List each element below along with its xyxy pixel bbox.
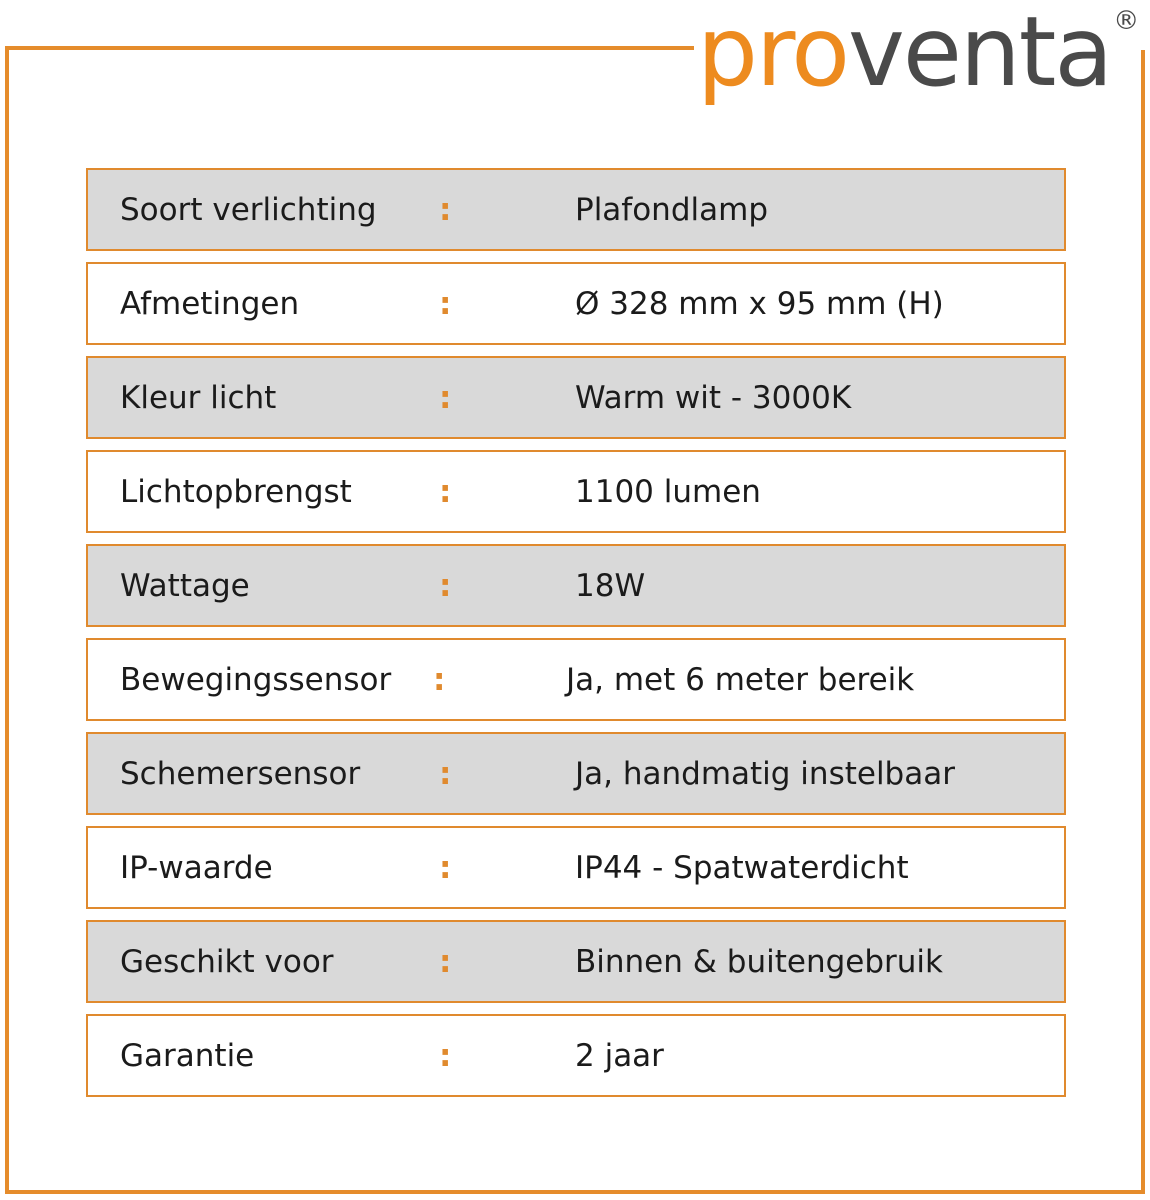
spec-label: IP-waarde — [120, 850, 273, 886]
spec-value: Ja, handmatig instelbaar — [575, 756, 955, 792]
registered-trademark-icon: ® — [1113, 8, 1139, 34]
spec-row: Soort verlichting:Plafondlamp — [86, 168, 1066, 251]
spec-label: Bewegingssensor — [120, 662, 391, 698]
spec-value: Plafondlamp — [575, 192, 768, 228]
specification-table: Soort verlichting:PlafondlampAfmetingen:… — [86, 168, 1066, 1108]
spec-separator-colon: : — [439, 192, 451, 228]
spec-label: Afmetingen — [120, 286, 299, 322]
spec-label: Kleur licht — [120, 380, 276, 416]
spec-label: Lichtopbrengst — [120, 474, 352, 510]
brand-logo-prefix: pro — [697, 0, 848, 104]
frame-top-line — [5, 46, 694, 50]
frame-right-line — [1141, 50, 1145, 1194]
spec-separator-colon: : — [439, 474, 451, 510]
spec-row: Wattage:18W — [86, 544, 1066, 627]
brand-logo-suffix: venta — [848, 0, 1111, 104]
spec-row: Geschikt voor:Binnen & buitengebruik — [86, 920, 1066, 1003]
spec-value: 2 jaar — [575, 1038, 664, 1074]
spec-row: IP-waarde:IP44 - Spatwaterdicht — [86, 826, 1066, 909]
spec-label: Schemersensor — [120, 756, 360, 792]
frame-left-line — [5, 46, 9, 1194]
spec-row: Garantie:2 jaar — [86, 1014, 1066, 1097]
spec-separator-colon: : — [439, 944, 451, 980]
spec-row: Kleur licht:Warm wit - 3000K — [86, 356, 1066, 439]
spec-separator-colon: : — [439, 286, 451, 322]
spec-value: 18W — [575, 568, 645, 604]
spec-value: Ja, met 6 meter bereik — [566, 662, 914, 698]
spec-value: 1100 lumen — [575, 474, 761, 510]
spec-separator-colon: : — [433, 662, 445, 698]
spec-value: Binnen & buitengebruik — [575, 944, 943, 980]
spec-label: Soort verlichting — [120, 192, 377, 228]
spec-label: Garantie — [120, 1038, 254, 1074]
spec-label: Wattage — [120, 568, 250, 604]
spec-row: Afmetingen:Ø 328 mm x 95 mm (H) — [86, 262, 1066, 345]
spec-label: Geschikt voor — [120, 944, 334, 980]
frame-bottom-line — [5, 1190, 1145, 1194]
spec-separator-colon: : — [439, 850, 451, 886]
spec-separator-colon: : — [439, 1038, 451, 1074]
spec-separator-colon: : — [439, 380, 451, 416]
spec-row: Schemersensor:Ja, handmatig instelbaar — [86, 732, 1066, 815]
spec-row: Lichtopbrengst:1100 lumen — [86, 450, 1066, 533]
brand-logo: pro venta ® — [697, 0, 1147, 104]
spec-separator-colon: : — [439, 568, 451, 604]
spec-row: Bewegingssensor:Ja, met 6 meter bereik — [86, 638, 1066, 721]
spec-value: Ø 328 mm x 95 mm (H) — [575, 286, 944, 322]
spec-value: IP44 - Spatwaterdicht — [575, 850, 909, 886]
spec-separator-colon: : — [439, 756, 451, 792]
spec-value: Warm wit - 3000K — [575, 380, 851, 416]
